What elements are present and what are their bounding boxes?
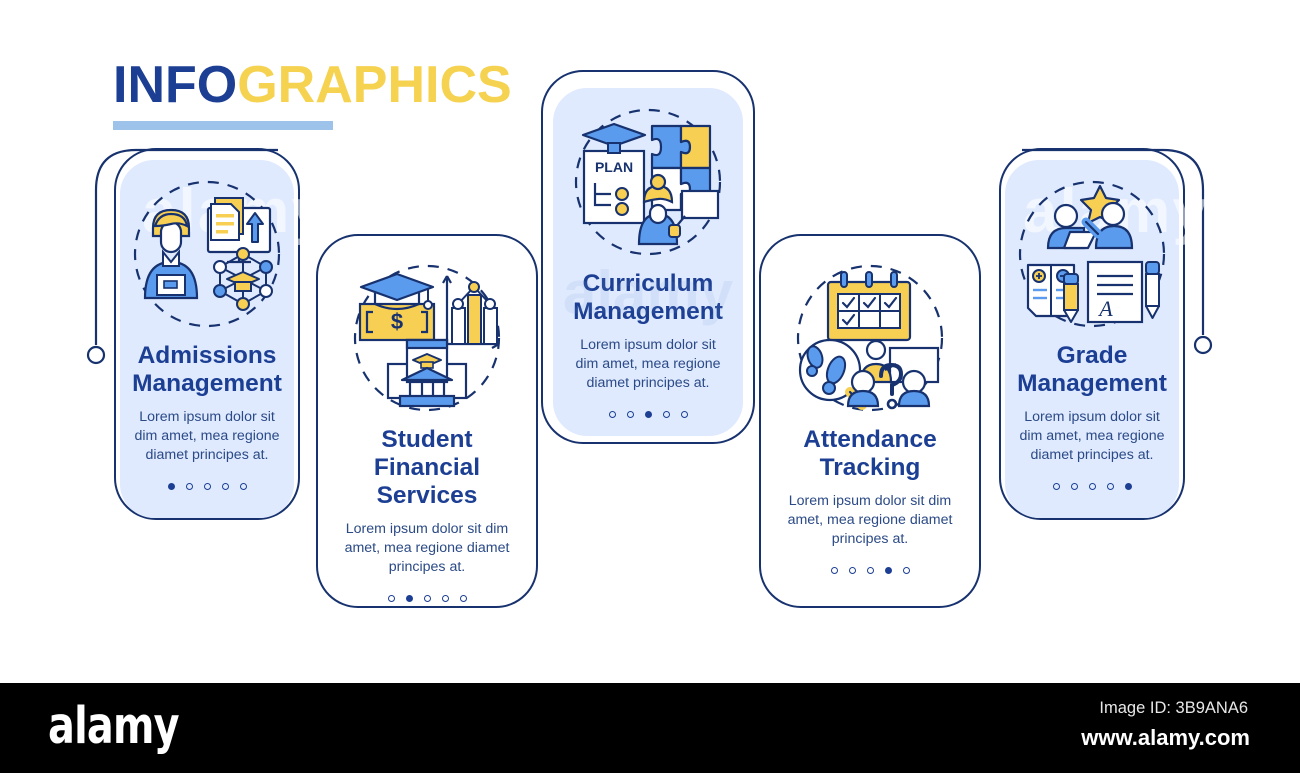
dot-2[interactable]: [186, 483, 193, 490]
svg-text:PLAN: PLAN: [595, 159, 633, 175]
step-card-3-title: Curriculum Management: [553, 270, 743, 326]
step-card-2-inner: $: [322, 244, 532, 600]
stock-footer-bar: alamy Image ID: 3B9ANA6 www.alamy.com: [0, 683, 1300, 773]
dot-2[interactable]: [849, 567, 856, 574]
alamy-logo: alamy: [48, 697, 179, 756]
infographic-canvas: INFOGRAPHICS alamy: [0, 0, 1300, 773]
step-card-3-dots[interactable]: [609, 411, 688, 418]
dot-1[interactable]: [1053, 483, 1060, 490]
page-title: INFOGRAPHICS: [113, 55, 593, 130]
dot-2[interactable]: [627, 411, 634, 418]
dot-5[interactable]: [240, 483, 247, 490]
step-card-1-inner: alamy: [120, 160, 294, 518]
image-id-label: Image ID: 3B9ANA6: [1099, 699, 1248, 718]
dot-3[interactable]: [645, 411, 652, 418]
dot-4[interactable]: [222, 483, 229, 490]
step-card-2-title: Student Financial Services: [322, 426, 532, 510]
step-card-4-title: Attendance Tracking: [765, 426, 975, 482]
dot-1[interactable]: [609, 411, 616, 418]
step-card-5-body: Lorem ipsum dolor sit dim amet, mea regi…: [1005, 408, 1179, 465]
svg-text:A: A: [1097, 296, 1113, 321]
admissions-icon: [123, 170, 291, 338]
step-card-4-inner: Attendance Tracking Lorem ipsum dolor si…: [765, 244, 975, 600]
dot-2[interactable]: [1071, 483, 1078, 490]
dot-4[interactable]: [663, 411, 670, 418]
step-card-2-dots[interactable]: [388, 595, 467, 602]
dot-3[interactable]: [204, 483, 211, 490]
alamy-url: www.alamy.com: [1081, 725, 1250, 751]
title-part-info: INFO: [113, 56, 237, 114]
step-card-1-dots[interactable]: [168, 483, 247, 490]
step-card-2-body: Lorem ipsum dolor sit dim amet, mea regi…: [322, 520, 532, 577]
step-card-3-body: Lorem ipsum dolor sit dim amet, mea regi…: [553, 336, 743, 393]
dot-4[interactable]: [442, 595, 449, 602]
step-card-4-body: Lorem ipsum dolor sit dim amet, mea regi…: [765, 492, 975, 549]
dot-5[interactable]: [1125, 483, 1132, 490]
step-card-5-title: Grade Management: [1005, 342, 1179, 398]
step-card-1-body: Lorem ipsum dolor sit dim amet, mea regi…: [120, 408, 294, 465]
dot-4[interactable]: [1107, 483, 1114, 490]
dot-3[interactable]: [867, 567, 874, 574]
curriculum-icon: PLAN: [564, 98, 732, 266]
dot-5[interactable]: [903, 567, 910, 574]
title-underline: [113, 121, 333, 130]
dot-1[interactable]: [831, 567, 838, 574]
dot-2[interactable]: [406, 595, 413, 602]
grade-icon: A: [1008, 170, 1176, 338]
dot-1[interactable]: [168, 483, 175, 490]
title-part-graphics: GRAPHICS: [237, 56, 511, 114]
dot-3[interactable]: [1089, 483, 1096, 490]
step-card-4-dots[interactable]: [831, 567, 910, 574]
step-card-5-inner: alamy: [1005, 160, 1179, 518]
dot-4[interactable]: [885, 567, 892, 574]
dot-5[interactable]: [460, 595, 467, 602]
dot-1[interactable]: [388, 595, 395, 602]
step-card-3-inner: alamy PLAN: [553, 88, 743, 436]
dot-5[interactable]: [681, 411, 688, 418]
dot-3[interactable]: [424, 595, 431, 602]
step-card-1-title: Admissions Management: [120, 342, 294, 398]
attendance-icon: [786, 254, 954, 422]
step-card-5-dots[interactable]: [1053, 483, 1132, 490]
student-financial-icon: $: [343, 254, 511, 422]
title-text: INFOGRAPHICS: [113, 55, 593, 115]
svg-text:$: $: [391, 309, 403, 334]
